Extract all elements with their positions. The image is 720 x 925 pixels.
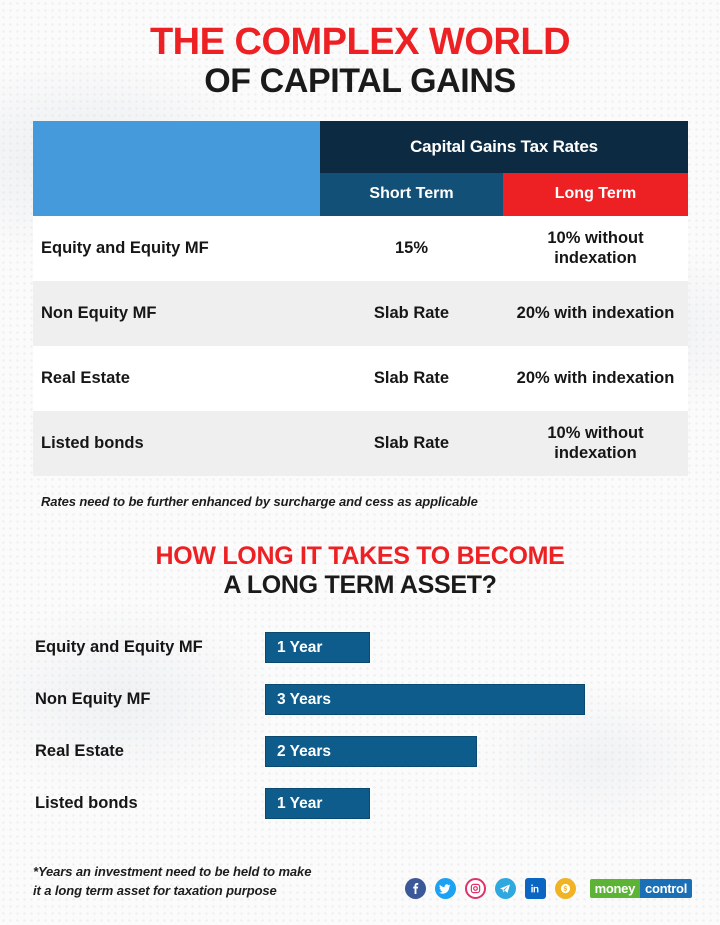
table-row: Equity and Equity MF 15% 10% without ind… — [33, 216, 688, 281]
bar-category-label: Listed bonds — [35, 794, 265, 813]
main-title: THE COMPLEX WORLD OF CAPITAL GAINS — [0, 0, 720, 101]
social-links: money control — [405, 878, 692, 901]
moneycontrol-app-icon[interactable] — [555, 878, 576, 899]
bar-chart-row: Non Equity MF 3 Years — [35, 674, 720, 726]
section-two-line-1: HOW LONG IT TAKES TO BECOME — [0, 543, 720, 571]
title-line-2: OF CAPITAL GAINS — [0, 63, 720, 100]
cell-asset: Real Estate — [33, 369, 320, 388]
moneycontrol-logo[interactable]: money control — [590, 879, 692, 898]
holding-period-bar-chart: Equity and Equity MF 1 Year Non Equity M… — [0, 622, 720, 830]
title-line-1: THE COMPLEX WORLD — [0, 22, 720, 62]
infographic-page: THE COMPLEX WORLD OF CAPITAL GAINS Capit… — [0, 0, 720, 925]
bar-chart-row: Listed bonds 1 Year — [35, 778, 720, 830]
table-header-corner-2 — [33, 173, 320, 216]
cell-long-term: 20% with indexation — [503, 303, 688, 323]
cell-short-term: 15% — [320, 239, 503, 258]
bar-track: 2 Years — [265, 736, 720, 767]
table-header-corner — [33, 121, 320, 173]
chart-footnote-line-2: it a long term asset for taxation purpos… — [33, 882, 311, 901]
cell-asset: Equity and Equity MF — [33, 239, 320, 258]
logo-money-text: money — [590, 879, 640, 898]
column-header-long-term: Long Term — [503, 173, 688, 216]
table-footnote: Rates need to be further enhanced by sur… — [41, 494, 688, 509]
footer: *Years an investment need to be held to … — [0, 863, 720, 901]
chart-footnote: *Years an investment need to be held to … — [33, 863, 311, 901]
bar-value-label: 2 Years — [266, 743, 331, 761]
bar-track: 3 Years — [265, 684, 720, 715]
bar-fill: 2 Years — [265, 736, 477, 767]
chart-footnote-line-1: *Years an investment need to be held to … — [33, 863, 311, 882]
bar-value-label: 1 Year — [266, 639, 322, 657]
cell-long-term: 10% without indexation — [503, 423, 688, 463]
bar-chart-row: Real Estate 2 Years — [35, 726, 720, 778]
twitter-icon[interactable] — [435, 878, 456, 899]
cell-short-term: Slab Rate — [320, 304, 503, 323]
bar-category-label: Real Estate — [35, 742, 265, 761]
bar-fill: 1 Year — [265, 788, 370, 819]
capital-gains-table: Capital Gains Tax Rates Short Term Long … — [33, 121, 688, 509]
instagram-icon[interactable] — [465, 878, 486, 899]
bar-category-label: Equity and Equity MF — [35, 638, 265, 657]
bar-track: 1 Year — [265, 632, 720, 663]
bar-value-label: 1 Year — [266, 795, 322, 813]
bar-chart-row: Equity and Equity MF 1 Year — [35, 622, 720, 674]
table-row: Listed bonds Slab Rate 10% without index… — [33, 411, 688, 476]
cell-asset: Non Equity MF — [33, 304, 320, 323]
section-two-title: HOW LONG IT TAKES TO BECOME A LONG TERM … — [0, 543, 720, 600]
linkedin-icon[interactable] — [525, 878, 546, 899]
bar-fill: 1 Year — [265, 632, 370, 663]
facebook-icon[interactable] — [405, 878, 426, 899]
table-header-bottom: Short Term Long Term — [33, 173, 688, 216]
bar-category-label: Non Equity MF — [35, 690, 265, 709]
column-header-short-term: Short Term — [320, 173, 503, 216]
cell-long-term: 20% with indexation — [503, 368, 688, 388]
bar-track: 1 Year — [265, 788, 720, 819]
bar-fill: 3 Years — [265, 684, 585, 715]
table-header-top: Capital Gains Tax Rates — [33, 121, 688, 173]
cell-long-term: 10% without indexation — [503, 228, 688, 268]
table-row: Real Estate Slab Rate 20% with indexatio… — [33, 346, 688, 411]
cell-short-term: Slab Rate — [320, 369, 503, 388]
cell-short-term: Slab Rate — [320, 434, 503, 453]
logo-control-text: control — [640, 879, 692, 898]
cell-asset: Listed bonds — [33, 434, 320, 453]
table-group-header: Capital Gains Tax Rates — [320, 121, 688, 173]
telegram-icon[interactable] — [495, 878, 516, 899]
section-two-line-2: A LONG TERM ASSET? — [0, 571, 720, 600]
table-row: Non Equity MF Slab Rate 20% with indexat… — [33, 281, 688, 346]
bar-value-label: 3 Years — [266, 691, 331, 709]
